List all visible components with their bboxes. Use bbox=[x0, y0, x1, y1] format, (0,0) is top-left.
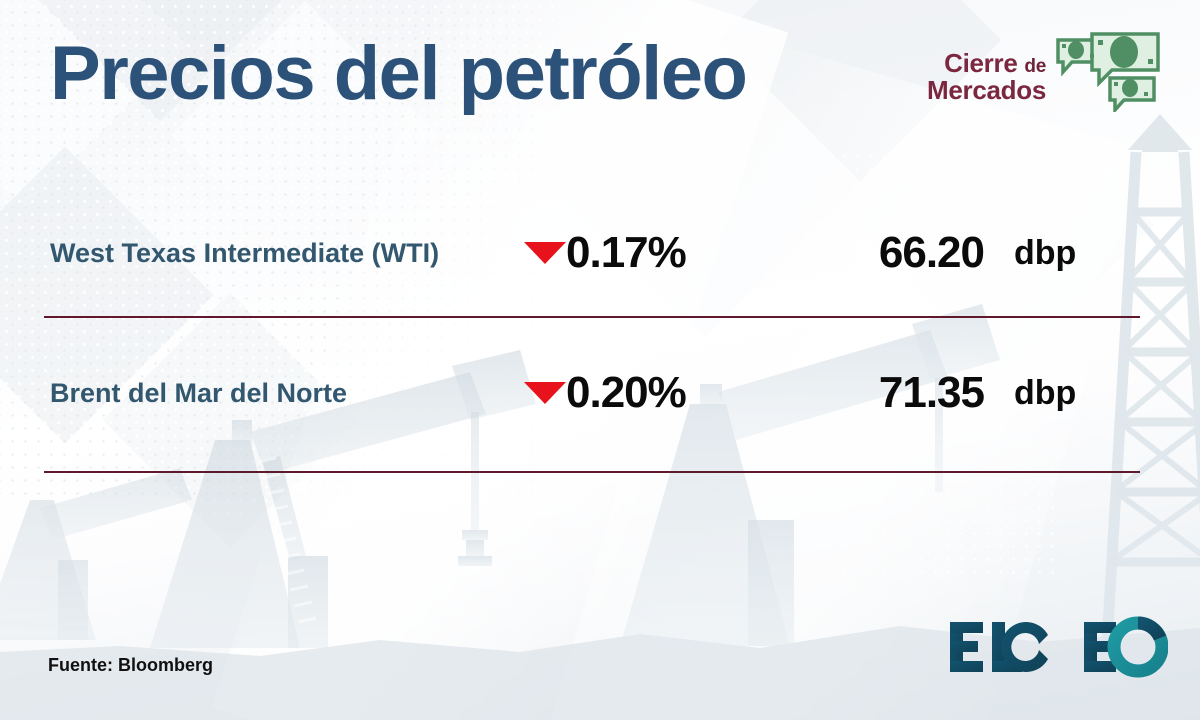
elceo-logo bbox=[948, 616, 1168, 678]
row-price: 71.35 bbox=[824, 368, 984, 418]
oil-prices-card: Precios del petróleo Cierre de Mercados bbox=[0, 0, 1200, 720]
triangle-down-icon bbox=[524, 382, 566, 404]
row-label: West Texas Intermediate (WTI) bbox=[50, 238, 439, 269]
table-row: West Texas Intermediate (WTI) 0.17% 66.2… bbox=[0, 218, 1200, 288]
row-price: 66.20 bbox=[824, 228, 984, 278]
row-unit: dbp bbox=[1014, 234, 1076, 273]
brand-text: Cierre de Mercados bbox=[927, 50, 1046, 105]
row-divider bbox=[44, 471, 1140, 473]
table-row: Brent del Mar del Norte 0.20% 71.35 dbp bbox=[0, 358, 1200, 428]
source-label: Fuente: Bloomberg bbox=[48, 655, 213, 676]
cierre-de-mercados-brand: Cierre de Mercados bbox=[924, 28, 1164, 128]
row-change: 0.17% bbox=[566, 228, 686, 278]
row-label: Brent del Mar del Norte bbox=[50, 378, 347, 409]
page-title: Precios del petróleo bbox=[50, 36, 746, 112]
row-divider bbox=[44, 316, 1140, 318]
row-unit: dbp bbox=[1014, 374, 1076, 413]
money-bill-speech-bubble-icon bbox=[1052, 28, 1164, 112]
brand-mercados-word: Mercados bbox=[927, 77, 1046, 104]
brand-line-1: Cierre de bbox=[927, 50, 1046, 77]
brand-cierre-word: Cierre bbox=[944, 48, 1017, 78]
brand-de-word: de bbox=[1024, 56, 1046, 77]
row-change: 0.20% bbox=[566, 368, 686, 418]
triangle-down-icon bbox=[524, 242, 566, 264]
